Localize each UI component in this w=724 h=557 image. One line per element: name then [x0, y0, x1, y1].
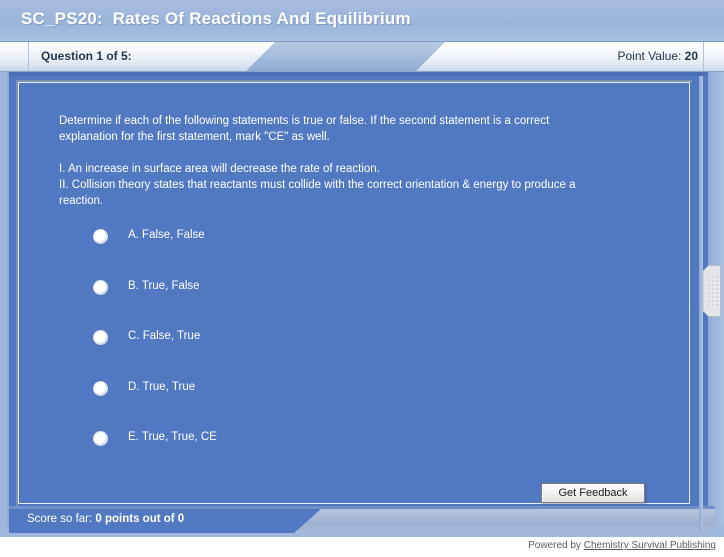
question-header-bar: Question 1 of 5: Point Value: 20 — [0, 42, 724, 72]
radio-button-icon[interactable] — [93, 280, 108, 295]
answer-option-label[interactable]: B. True, False — [128, 279, 200, 293]
header-divider-left — [28, 42, 29, 71]
content-top-accent — [0, 72, 724, 76]
get-feedback-button[interactable]: Get Feedback — [541, 483, 645, 503]
score-prefix: Score so far: — [27, 513, 95, 525]
point-value-label: Point Value: — [617, 49, 684, 63]
answer-option-label[interactable]: C. False, True — [128, 329, 200, 343]
footer-credit: Powered by Chemistry Survival Publishing — [528, 540, 716, 551]
radio-button-icon[interactable] — [93, 330, 108, 345]
answer-option-c[interactable]: C. False, True — [93, 329, 563, 380]
page-title: SC_PS20: Rates Of Reactions And Equilibr… — [21, 9, 411, 29]
answer-option-label[interactable]: D. True, True — [128, 380, 195, 394]
splitter-rail[interactable] — [699, 76, 703, 531]
question-instruction-line-1: Determine if each of the following state… — [59, 113, 629, 129]
question-text-spacer — [59, 145, 629, 161]
point-value: Point Value: 20 — [617, 49, 698, 63]
radio-button-icon[interactable] — [93, 229, 108, 244]
question-text: Determine if each of the following state… — [59, 113, 629, 209]
point-value-number: 20 — [685, 49, 698, 63]
score-text: Score so far: 0 points out of 0 — [27, 513, 184, 525]
score-value: 0 points out of 0 — [95, 513, 184, 525]
footer: Powered by Chemistry Survival Publishing — [0, 537, 724, 557]
question-statement-2: II. Collision theory states that reactan… — [59, 177, 629, 193]
header-divider-right — [703, 42, 704, 71]
question-counter: Question 1 of 5: — [41, 49, 132, 63]
score-bar: Score so far: 0 points out of 0 — [9, 509, 715, 533]
question-statement-2-continued: reaction. — [59, 193, 629, 209]
question-instruction-line-2: explanation for the first statement, mar… — [59, 129, 629, 145]
quiz-application: SC_PS20: Rates Of Reactions And Equilibr… — [0, 0, 724, 557]
title-bar: SC_PS20: Rates Of Reactions And Equilibr… — [0, 0, 724, 42]
question-statement-1: I. An increase in surface area will decr… — [59, 161, 629, 177]
footer-powered-by-label: Powered by — [528, 540, 584, 551]
radio-button-icon[interactable] — [93, 431, 108, 446]
content-edge-left — [0, 72, 9, 537]
answer-options-list: A. False, False B. True, False C. False,… — [93, 228, 563, 481]
answer-option-d[interactable]: D. True, True — [93, 380, 563, 431]
answer-option-e[interactable]: E. True, True, CE — [93, 430, 563, 481]
answer-option-b[interactable]: B. True, False — [93, 279, 563, 330]
answer-option-a[interactable]: A. False, False — [93, 228, 563, 279]
radio-button-icon[interactable] — [93, 381, 108, 396]
answer-option-label[interactable]: E. True, True, CE — [128, 430, 217, 444]
publisher-link[interactable]: Chemistry Survival Publishing — [584, 540, 716, 551]
grip-dots-icon[interactable] — [707, 275, 718, 307]
answer-option-label[interactable]: A. False, False — [128, 228, 205, 242]
